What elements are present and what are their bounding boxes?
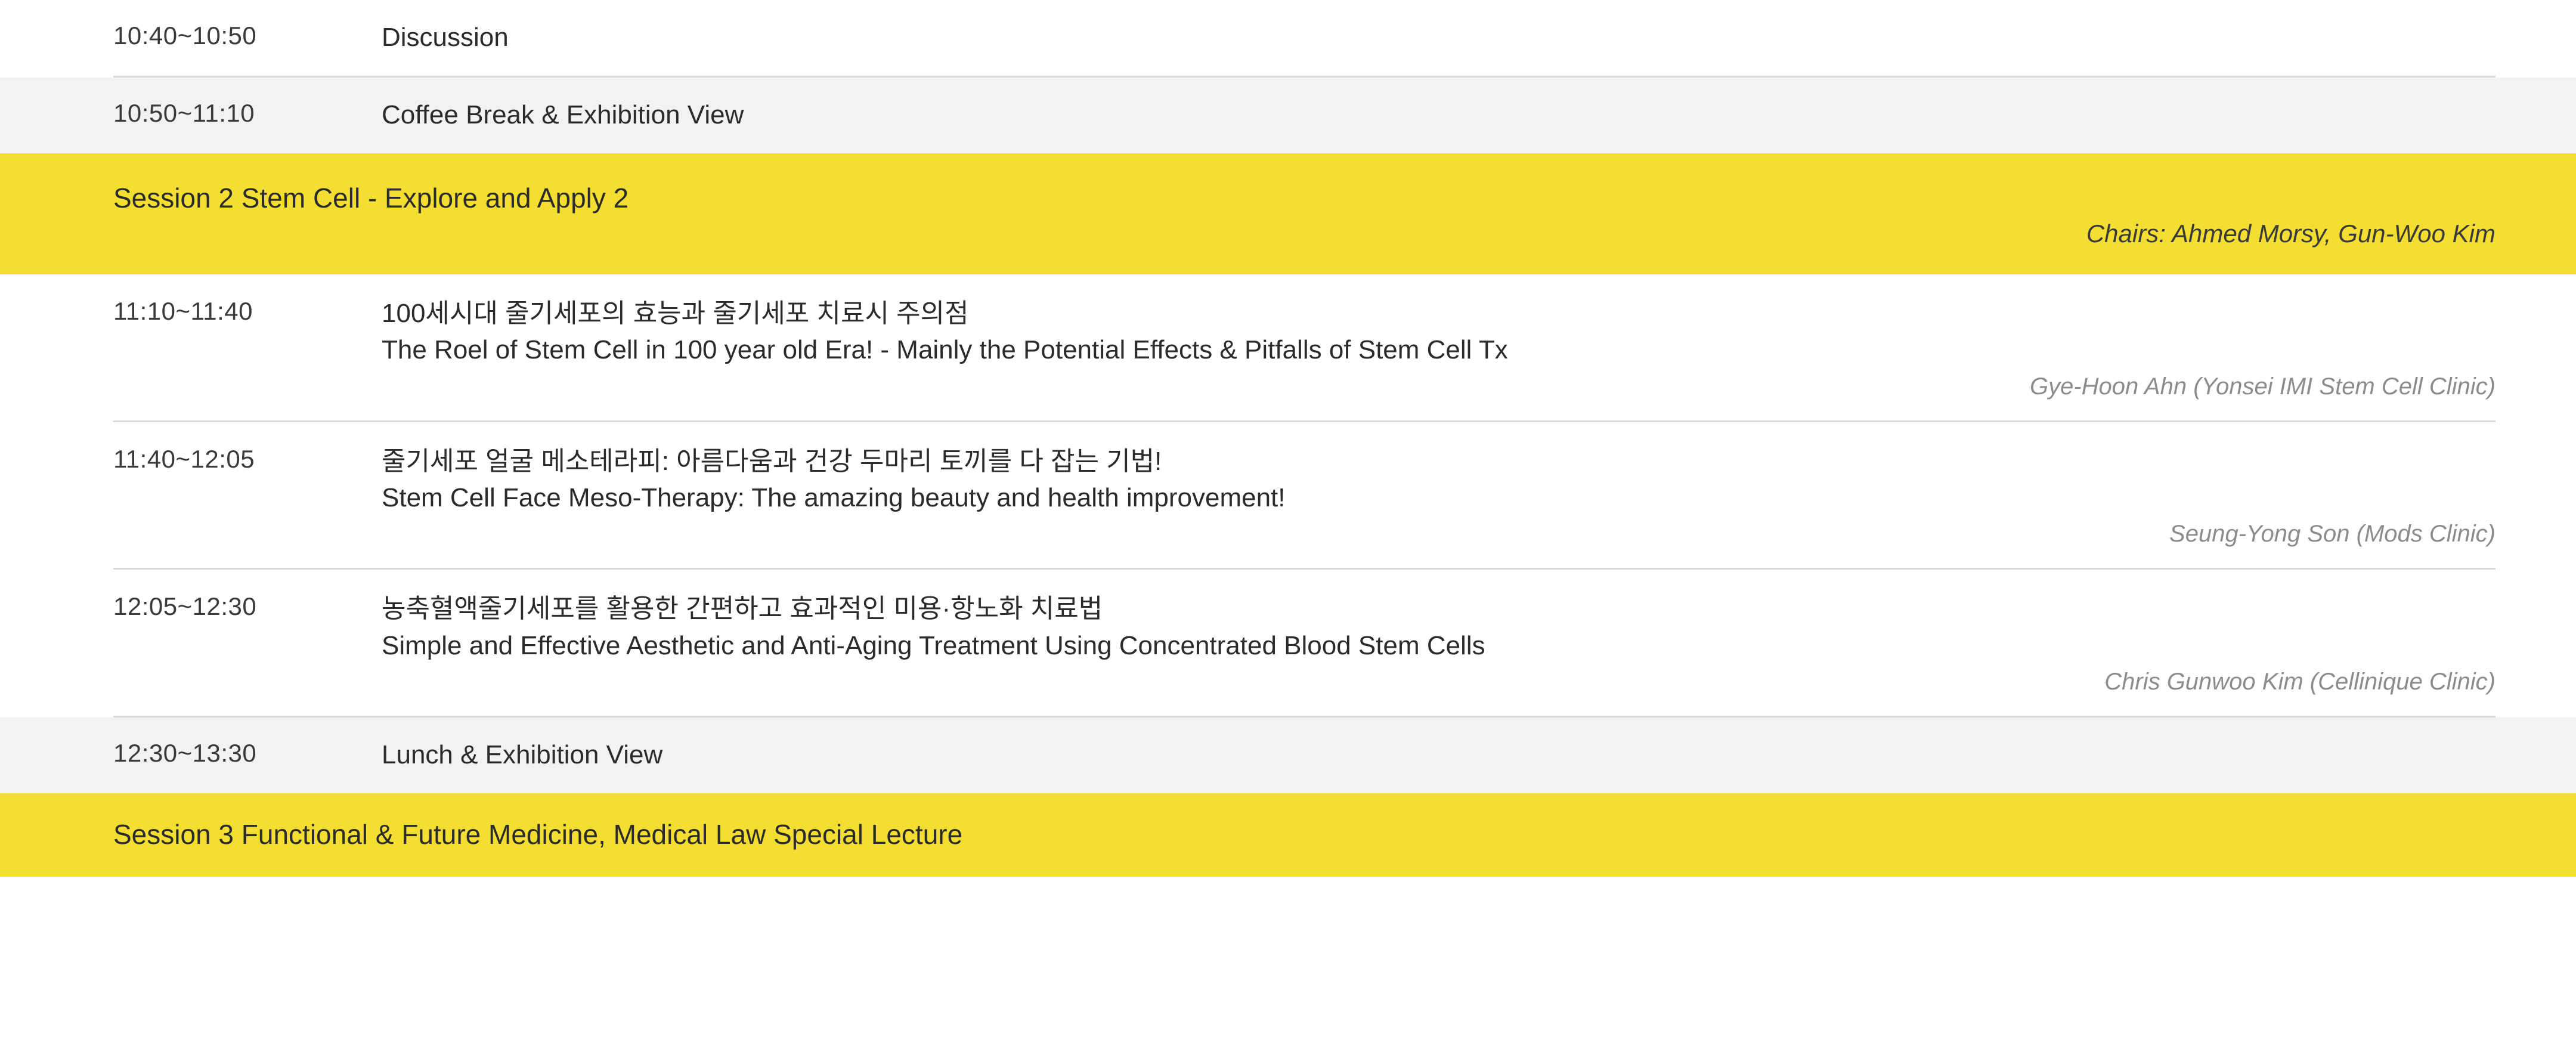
session-banner-session-2: Session 2 Stem Cell - Explore and Apply … [0, 153, 2576, 274]
session-title: Session 2 Stem Cell - Explore and Apply … [113, 181, 2495, 216]
row-body: Discussion [382, 20, 2495, 54]
row-time: 11:40~12:05 [113, 444, 382, 475]
talk-title-korean: 100세시대 줄기세포의 효능과 줄기세포 치료시 주의점 [382, 296, 2495, 331]
talk-title-english: Stem Cell Face Meso-Therapy: The amazing… [382, 480, 2495, 515]
session-title: Session 3 Functional & Future Medicine, … [113, 817, 2495, 853]
schedule-row-talk: 11:10~11:40 100세시대 줄기세포의 효능과 줄기세포 치료시 주의… [0, 274, 2576, 420]
schedule-row-coffee-break: 10:50~11:10 Coffee Break & Exhibition Vi… [0, 78, 2576, 153]
row-time: 10:50~11:10 [113, 98, 382, 129]
talk-speaker: Seung-Yong Son (Mods Clinic) [382, 518, 2495, 550]
talk-title-korean: 농축혈액줄기세포를 활용한 간편하고 효과적인 미용·항노화 치료법 [382, 591, 2495, 626]
row-label: Coffee Break & Exhibition View [382, 98, 2495, 132]
row-body: 농축혈액줄기세포를 활용한 간편하고 효과적인 미용·항노화 치료법 Simpl… [382, 591, 2495, 698]
talk-speaker: Chris Gunwoo Kim (Cellinique Clinic) [382, 666, 2495, 698]
row-body: 줄기세포 얼굴 메소테라피: 아름다움과 건강 두마리 토끼를 다 잡는 기법!… [382, 444, 2495, 550]
row-time: 11:10~11:40 [113, 296, 382, 327]
row-time: 12:05~12:30 [113, 591, 382, 623]
row-body: Coffee Break & Exhibition View [382, 98, 2495, 132]
row-time: 10:40~10:50 [113, 20, 382, 52]
row-body: Lunch & Exhibition View [382, 738, 2495, 772]
row-label: Lunch & Exhibition View [382, 738, 2495, 772]
row-body: 100세시대 줄기세포의 효능과 줄기세포 치료시 주의점 The Roel o… [382, 296, 2495, 403]
schedule-row-talk: 12:05~12:30 농축혈액줄기세포를 활용한 간편하고 효과적인 미용·항… [0, 570, 2576, 716]
schedule-row-discussion: 10:40~10:50 Discussion [0, 0, 2576, 76]
talk-title-korean: 줄기세포 얼굴 메소테라피: 아름다움과 건강 두마리 토끼를 다 잡는 기법! [382, 444, 2495, 479]
talk-title-english: The Roel of Stem Cell in 100 year old Er… [382, 332, 2495, 367]
row-label: Discussion [382, 20, 2495, 54]
row-time: 12:30~13:30 [113, 738, 382, 769]
session-chairs: Chairs: Ahmed Morsy, Gun-Woo Kim [113, 218, 2495, 250]
schedule-row-talk: 11:40~12:05 줄기세포 얼굴 메소테라피: 아름다움과 건강 두마리 … [0, 422, 2576, 568]
talk-speaker: Gye-Hoon Ahn (Yonsei IMI Stem Cell Clini… [382, 370, 2495, 403]
conference-program-schedule: 10:40~10:50 Discussion 10:50~11:10 Coffe… [0, 0, 2576, 877]
talk-title-english: Simple and Effective Aesthetic and Anti-… [382, 628, 2495, 663]
session-banner-session-3: Session 3 Functional & Future Medicine, … [0, 793, 2576, 877]
schedule-row-lunch: 12:30~13:30 Lunch & Exhibition View [0, 717, 2576, 793]
